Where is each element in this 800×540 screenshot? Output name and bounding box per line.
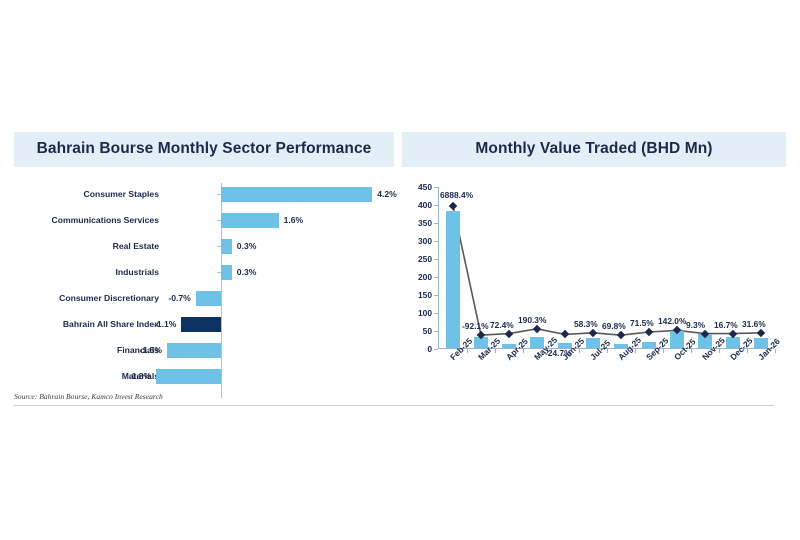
bar-row: Industrials0.3% [14, 261, 394, 283]
left-chart-panel: Bahrain Bourse Monthly Sector Performanc… [14, 132, 394, 398]
mom-change-data-label: 9.3% [686, 320, 705, 330]
bar-value-label: 1.6% [284, 209, 304, 231]
y-axis-tick [434, 241, 438, 242]
y-axis-tick [434, 223, 438, 224]
y-axis-label: 0 [402, 345, 432, 353]
y-axis-label: 200 [402, 273, 432, 281]
bar-segment[interactable] [221, 265, 232, 280]
monthly-value-traded-chart: 050100150200250300350400450Feb-25Mar-25A… [402, 179, 786, 394]
left-chart-title: Bahrain Bourse Monthly Sector Performanc… [14, 132, 394, 167]
y-axis-label: 250 [402, 255, 432, 263]
bar-value-label: -1.8% [129, 365, 151, 387]
y-axis-tick [434, 277, 438, 278]
bar-row: Communications Services1.6% [14, 209, 394, 231]
bar-value-label: -1.1% [154, 313, 176, 335]
sector-performance-bar-chart: Consumer Staples4.2%Communications Servi… [14, 183, 394, 398]
bar-value-label: 0.3% [237, 261, 257, 283]
bar-category-label: Industrials [14, 261, 159, 283]
bar-category-label: Bahrain All Share Index [14, 313, 159, 335]
slide-canvas: Bahrain Bourse Monthly Sector Performanc… [0, 0, 800, 540]
mom-change-data-label: 6888.4% [440, 190, 473, 200]
mom-change-data-label: -92.1% [462, 321, 489, 331]
mom-change-data-label: 16.7% [714, 320, 738, 330]
bar-segment[interactable] [181, 317, 221, 332]
bar-value-label: 0.3% [237, 235, 257, 257]
mom-change-data-label: 69.8% [602, 321, 626, 331]
y-axis-tick [434, 205, 438, 206]
bar-category-label: Communications Services [14, 209, 159, 231]
y-axis-label: 150 [402, 291, 432, 299]
y-axis-label: 300 [402, 237, 432, 245]
y-axis-tick [434, 295, 438, 296]
bar-row: Financials-1.5% [14, 339, 394, 361]
value-traded-bar[interactable] [446, 211, 461, 348]
bar-segment[interactable] [167, 343, 221, 358]
bar-row: Materials-1.8% [14, 365, 394, 387]
mom-change-data-label: 31.6% [742, 319, 766, 329]
y-axis-tick [434, 259, 438, 260]
y-axis-label: 400 [402, 201, 432, 209]
bar-row: Consumer Discretionary-0.7% [14, 287, 394, 309]
source-note: Source: Bahrain Bourse, Kamco Invest Res… [14, 392, 774, 406]
bar-segment[interactable] [221, 213, 279, 228]
bar-segment[interactable] [156, 369, 221, 384]
right-chart-title: Monthly Value Traded (BHD Mn) [402, 132, 786, 167]
mom-change-data-label: 190.3% [518, 315, 546, 325]
bar-segment[interactable] [221, 239, 232, 254]
right-chart-panel: Monthly Value Traded (BHD Mn) 0501001502… [402, 132, 786, 394]
mom-change-data-label: -24.7% [545, 348, 572, 358]
bar-category-label: Consumer Discretionary [14, 287, 159, 309]
bar-segment[interactable] [196, 291, 221, 306]
mom-change-data-label: 58.3% [574, 319, 598, 329]
y-axis-tick [434, 349, 438, 350]
bar-category-label: Real Estate [14, 235, 159, 257]
bar-value-label: -0.7% [168, 287, 190, 309]
bar-value-label: 4.2% [377, 183, 397, 205]
mom-change-data-label: 72.4% [490, 320, 514, 330]
bar-category-label: Financials [14, 339, 159, 361]
bar-segment[interactable] [221, 187, 372, 202]
mom-change-data-label: 71.5% [630, 318, 654, 328]
bar-category-label: Consumer Staples [14, 183, 159, 205]
mom-change-data-label: 142.0% [658, 316, 686, 326]
y-axis-tick [434, 187, 438, 188]
bar-row: Consumer Staples4.2% [14, 183, 394, 205]
y-axis-label: 350 [402, 219, 432, 227]
bar-row: Real Estate0.3% [14, 235, 394, 257]
y-axis-tick [434, 331, 438, 332]
bar-value-label: -1.5% [140, 339, 162, 361]
y-axis-label: 100 [402, 309, 432, 317]
y-axis-label: 450 [402, 183, 432, 191]
y-axis-tick [434, 313, 438, 314]
y-axis-label: 50 [402, 327, 432, 335]
bar-row: Bahrain All Share Index-1.1% [14, 313, 394, 335]
